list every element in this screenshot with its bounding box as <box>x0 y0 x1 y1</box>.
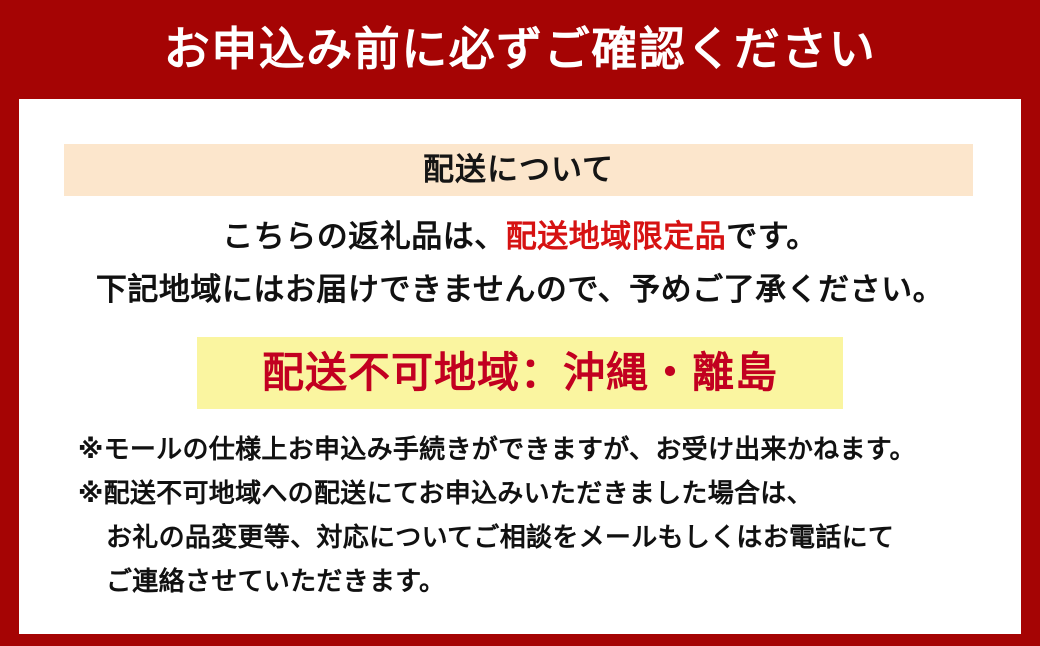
restricted-area-band: 配送不可地域：沖縄・離島 <box>197 337 843 409</box>
lead-line-1-prefix: こちらの返礼品は、 <box>222 219 506 255</box>
lead-line-1-highlight: 配送地域限定品 <box>506 219 727 255</box>
header-banner: お申込み前に必ずご確認ください <box>0 0 1040 99</box>
section-header-label: 配送について <box>423 155 614 186</box>
note-line-1: ※モールの仕様上お申込み手続きができますが、お受け出来かねます。 <box>78 428 988 472</box>
shipping-notice-card: お申込み前に必ずご確認ください 配送について こちらの返礼品は、配送地域限定品で… <box>0 0 1040 646</box>
lead-line-2: 下記地域にはお届けできませんので、予めご了承ください。 <box>19 264 1021 317</box>
notice-body: 配送について こちらの返礼品は、配送地域限定品です。 下記地域にはお届けできませ… <box>0 99 1021 634</box>
note-line-3: お礼の品変更等、対応についてご相談をメールもしくはお電話にて <box>78 516 988 560</box>
restricted-area-label: 配送不可地域：沖縄・離島 <box>262 352 778 394</box>
lead-line-1-suffix: です。 <box>726 219 817 255</box>
page-title: お申込み前に必ずご確認ください <box>164 26 877 72</box>
lead-paragraph: こちらの返礼品は、配送地域限定品です。 下記地域にはお届けできませんので、予めご… <box>19 211 1021 317</box>
note-line-4: ご連絡させていただきます。 <box>78 560 988 604</box>
lead-line-1: こちらの返礼品は、配送地域限定品です。 <box>19 211 1021 264</box>
note-line-2: ※配送不可地域への配送にてお申込みいただきました場合は、 <box>78 472 988 516</box>
notes-list: ※モールの仕様上お申込み手続きができますが、お受け出来かねます。 ※配送不可地域… <box>78 428 988 604</box>
section-header-band: 配送について <box>64 144 973 196</box>
